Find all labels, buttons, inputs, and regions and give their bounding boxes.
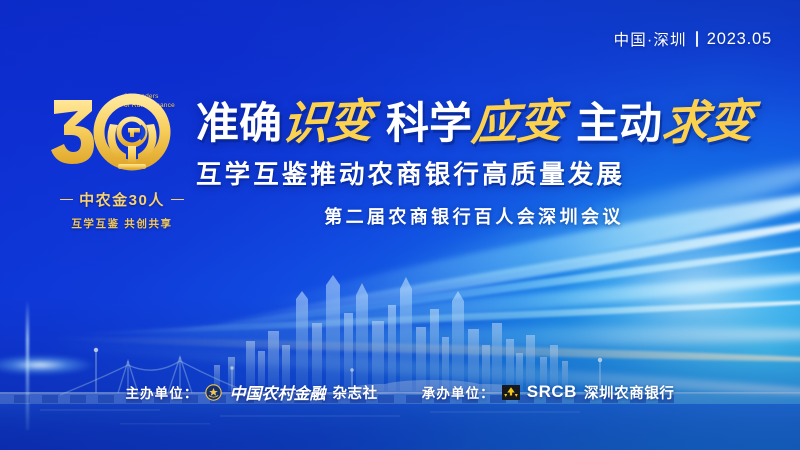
- event-logo: 30 Leaders of Rural Finance: [42, 88, 202, 236]
- headline-segment-2: 科学 应变: [386, 98, 562, 147]
- organizer-credit: 主办单位： 中国农村金融 杂志社: [125, 380, 377, 404]
- china-rural-finance-emblem-icon: [205, 384, 222, 401]
- logo-chinese-name: 中农金30人: [79, 189, 165, 210]
- cupped-hands-coin-emblem-icon: [42, 88, 202, 188]
- headline-subtitle: 互学互鉴推动农商银行高质量发展: [196, 154, 752, 191]
- divider: [696, 31, 698, 47]
- organizer-name-script: 中国农村金融: [229, 380, 325, 404]
- headline-plain-2: 科学: [386, 101, 472, 147]
- date-text: 2023.05: [707, 30, 772, 49]
- left-light-beam: [26, 300, 29, 430]
- organizer-label: 主办单位：: [125, 382, 198, 402]
- srcb-logo-icon: [502, 385, 520, 400]
- headline-plain-1: 准确: [196, 101, 282, 147]
- dash-right: [171, 199, 184, 201]
- headline-third-line: 第二届农商银行百人会深圳会议: [196, 203, 752, 229]
- headline-main-row: 准确 识变 科学 应变 主动 求变: [196, 98, 752, 147]
- headline-block: 准确 识变 科学 应变 主动 求变 互学互鉴推动农商银行高质量发展 第二届农商银…: [196, 98, 752, 229]
- date-location-bar: 中国·深圳 2023.05: [614, 28, 772, 50]
- headline-script-1: 识变: [280, 96, 375, 147]
- left-light-flare: [0, 352, 110, 378]
- dash-left: [60, 199, 73, 201]
- host-label: 承办单位：: [422, 382, 495, 402]
- host-credit: 承办单位： SRCB 深圳农商银行: [422, 382, 675, 403]
- headline-script-2: 应变: [470, 96, 565, 147]
- host-name-latin: SRCB: [527, 382, 577, 402]
- organizer-name-plain: 杂志社: [332, 382, 377, 403]
- credits-row: 主办单位： 中国农村金融 杂志社 承办单位： S: [0, 380, 800, 404]
- logo-slogan: 互学互鉴 共创共享: [71, 216, 172, 231]
- headline-segment-1: 准确 识变: [196, 98, 372, 147]
- headline-script-3: 求变: [660, 96, 755, 147]
- headline-segment-3: 主动 求变: [576, 98, 752, 147]
- location-text: 中国·深圳: [614, 28, 687, 50]
- host-name-plain: 深圳农商银行: [584, 382, 675, 403]
- headline-plain-3: 主动: [576, 101, 662, 147]
- conference-banner: 中国·深圳 2023.05 30 Leaders of Rural Financ…: [0, 0, 800, 450]
- logo-chinese-name-row: 中农金30人: [60, 189, 184, 210]
